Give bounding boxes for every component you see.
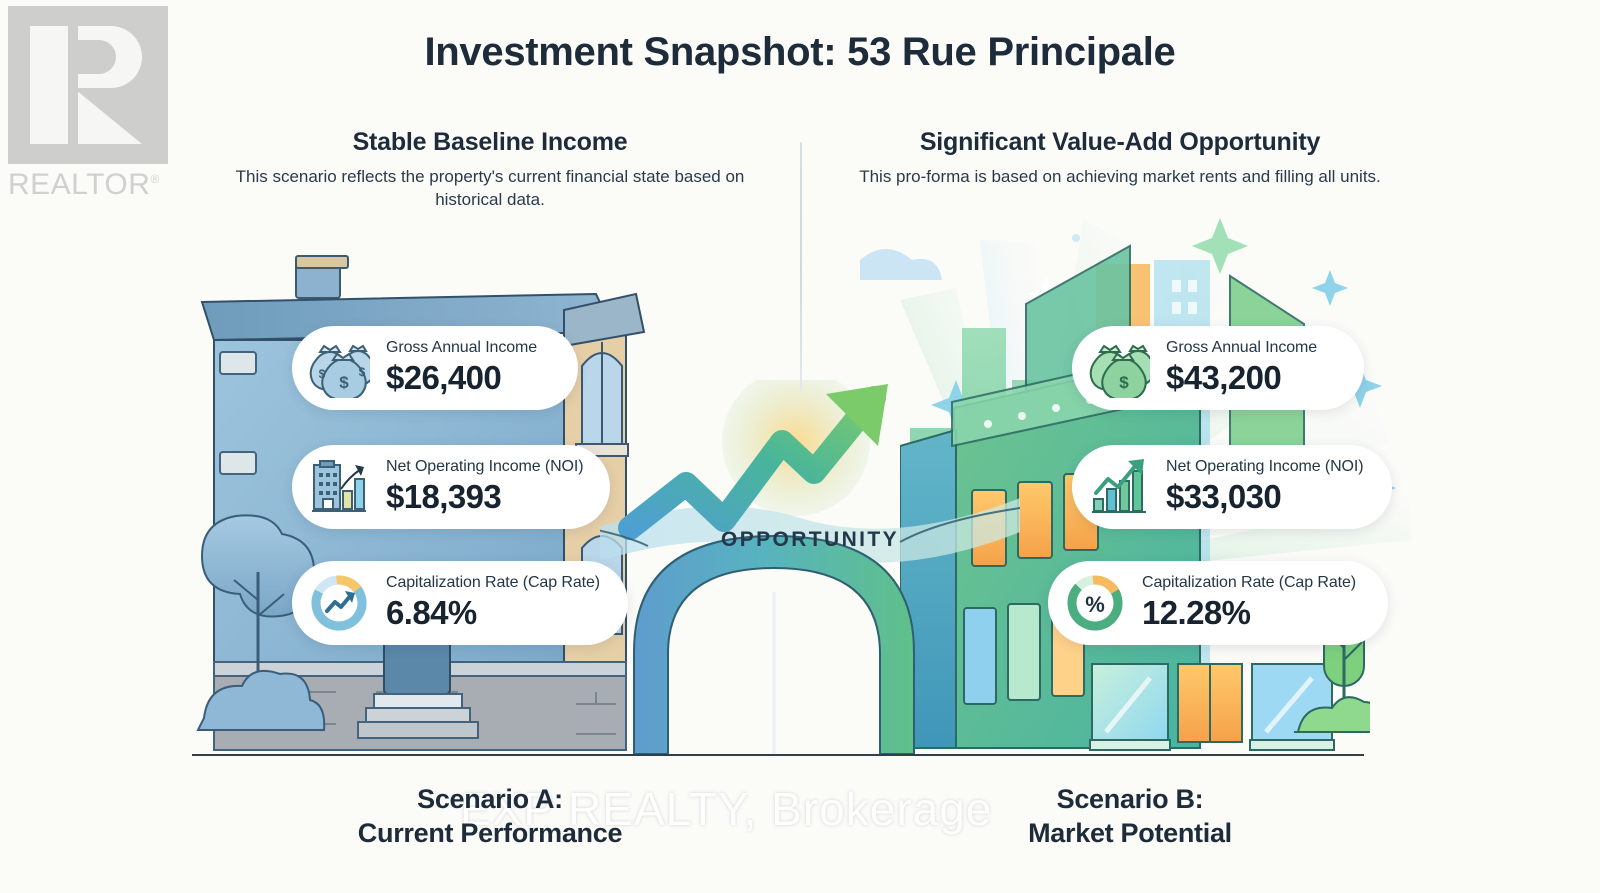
svg-text:$: $: [359, 365, 366, 379]
metric-card: % Capitalization Rate (Cap Rate) 12.28%: [1048, 561, 1388, 645]
svg-text:$: $: [1119, 373, 1129, 392]
metric-card: Net Operating Income (NOI) $33,030: [1072, 445, 1392, 529]
svg-text:$: $: [319, 367, 326, 381]
left-heading: Stable Baseline Income: [220, 128, 760, 157]
svg-text:$: $: [339, 373, 349, 392]
metric-label: Capitalization Rate (Cap Rate): [1142, 574, 1356, 592]
svg-text:%: %: [1085, 592, 1105, 617]
scenario-a-caption: Scenario A: Current Performance: [250, 782, 730, 850]
metric-value: 6.84%: [386, 594, 600, 632]
metric-card: Capitalization Rate (Cap Rate) 6.84%: [292, 561, 628, 645]
right-column-header: Significant Value-Add Opportunity This p…: [840, 128, 1400, 189]
right-subheading: This pro-forma is based on achieving mar…: [840, 166, 1400, 189]
metric-label: Gross Annual Income: [1166, 339, 1317, 357]
metric-value: $18,393: [386, 478, 583, 516]
opportunity-arch-illustration: [600, 380, 1020, 758]
growth-bar-chart-icon: [1088, 457, 1150, 517]
cap-rate-donut-icon: [308, 573, 370, 633]
metric-card: $ Gross Annual Income $43,200: [1072, 326, 1364, 410]
realtor-wordmark: REALTOR®: [8, 168, 188, 202]
metric-card: $ $ $ Gross Annual Income $26,400: [292, 326, 578, 410]
metric-label: Capitalization Rate (Cap Rate): [386, 574, 600, 592]
opportunity-label: OPPORTUNITY: [650, 528, 970, 552]
infographic-canvas: REALTOR® Investment Snapshot: 53 Rue Pri…: [0, 0, 1600, 893]
scenario-a-line1: Scenario A:: [250, 782, 730, 816]
money-bags-icon: $ $ $: [308, 338, 370, 398]
metric-label: Net Operating Income (NOI): [1166, 458, 1363, 476]
registered-mark: ®: [150, 172, 159, 186]
left-column-header: Stable Baseline Income This scenario ref…: [220, 128, 760, 211]
metric-value: $33,030: [1166, 478, 1363, 516]
scenario-b-caption: Scenario B: Market Potential: [880, 782, 1380, 850]
realtor-word-text: REALTOR: [8, 168, 150, 201]
money-bags-icon: $: [1088, 338, 1150, 398]
scenario-b-line1: Scenario B:: [880, 782, 1380, 816]
metric-card: Net Operating Income (NOI) $18,393: [292, 445, 610, 529]
left-subheading: This scenario reflects the property's cu…: [220, 166, 760, 211]
percent-donut-icon: %: [1064, 573, 1126, 633]
scenario-b-line2: Market Potential: [880, 816, 1380, 850]
page-title: Investment Snapshot: 53 Rue Principale: [0, 30, 1600, 75]
metric-label: Net Operating Income (NOI): [386, 458, 583, 476]
ground-line: [192, 754, 1364, 756]
right-heading: Significant Value-Add Opportunity: [840, 128, 1400, 157]
metric-value: $26,400: [386, 359, 537, 397]
scenario-a-line2: Current Performance: [250, 816, 730, 850]
column-divider: [800, 142, 802, 390]
metric-value: $43,200: [1166, 359, 1317, 397]
building-bar-chart-icon: [308, 457, 370, 517]
metric-value: 12.28%: [1142, 594, 1356, 632]
metric-label: Gross Annual Income: [386, 339, 537, 357]
